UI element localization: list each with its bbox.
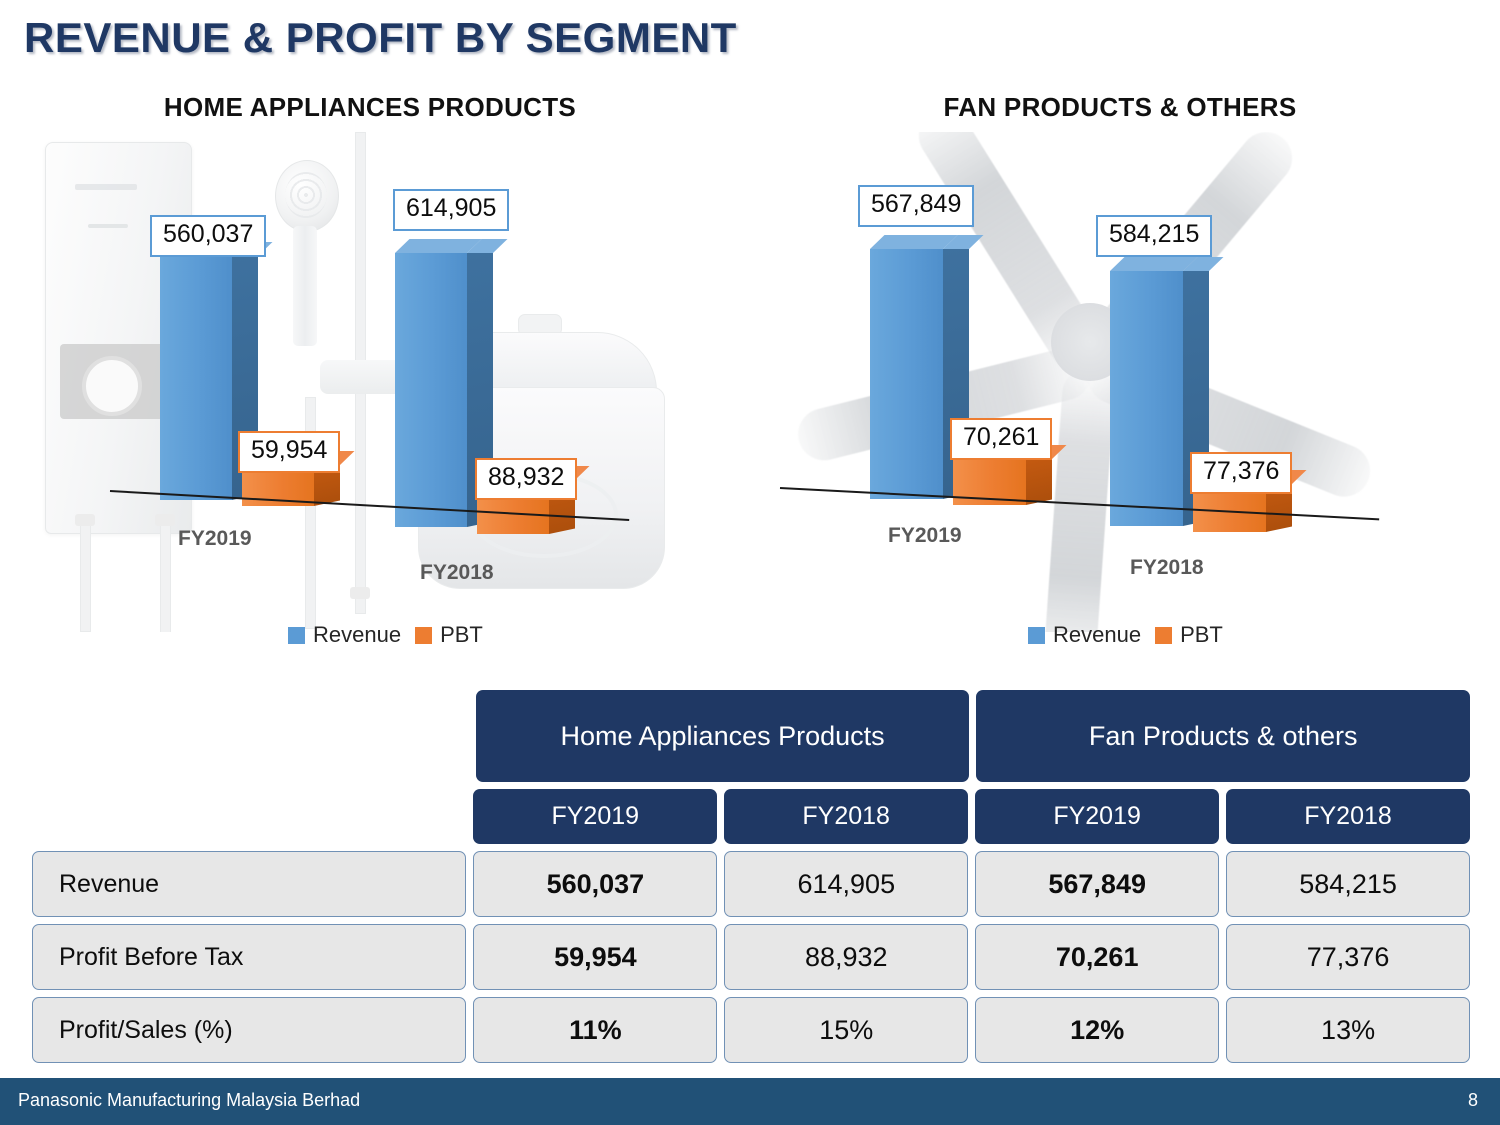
table-row-label-revenue: Revenue	[32, 851, 466, 917]
pipe-icon-2	[160, 520, 171, 632]
square-swatch-orange-icon	[415, 627, 432, 644]
table-cell-revenue-fan-fy2019: 567,849	[975, 851, 1219, 917]
segment-summary-table: Home Appliances Products Fan Products & …	[32, 690, 1470, 1070]
table-cell-pbt-fan-fy2018: 77,376	[1226, 924, 1470, 990]
table-row-label-profit-sales-pct: Profit/Sales (%)	[32, 997, 466, 1063]
table-row: Profit Before Tax 59,954 88,932 70,261 7…	[32, 924, 1470, 990]
table-cell-profitsales-fan-fy2019: 12%	[975, 997, 1219, 1063]
table-cell-pbt-ha-fy2019: 59,954	[473, 924, 717, 990]
chart-legend-home-appliances: Revenue PBT	[288, 622, 483, 648]
table-row-label-profit-before-tax: Profit Before Tax	[32, 924, 466, 990]
chart-title-fan-products: FAN PRODUCTS & OTHERS	[760, 92, 1480, 123]
pipe-cap-icon-2	[155, 514, 175, 526]
table-cell-profitsales-ha-fy2018: 15%	[724, 997, 968, 1063]
table-group-header-row: Home Appliances Products Fan Products & …	[32, 690, 1470, 782]
water-heater-brand-mark	[75, 184, 137, 190]
square-swatch-blue-icon	[1028, 627, 1045, 644]
slide-footer: Panasonic Manufacturing Malaysia Berhad …	[0, 1078, 1500, 1125]
table-corner-spacer-2	[32, 789, 466, 844]
legend-item-revenue: Revenue	[288, 622, 401, 648]
footer-page-number: 8	[1468, 1090, 1478, 1111]
table-corner-spacer	[32, 690, 469, 782]
bar-revenue-fy2019	[870, 249, 943, 499]
legend-item-pbt: PBT	[1155, 622, 1223, 648]
legend-label-pbt: PBT	[440, 622, 483, 648]
table-year-header-fan-fy2019: FY2019	[975, 789, 1219, 844]
table-group-header-home-appliances: Home Appliances Products	[476, 690, 970, 782]
value-label-revenue-fy2018: 584,215	[1096, 215, 1212, 257]
bar-revenue-fy2019	[160, 256, 232, 500]
table-year-header-fan-fy2018: FY2018	[1226, 789, 1470, 844]
value-label-pbt-fy2018: 77,376	[1190, 452, 1292, 494]
table-cell-revenue-ha-fy2018: 614,905	[724, 851, 968, 917]
table-group-header-fan-products: Fan Products & others	[976, 690, 1470, 782]
square-swatch-orange-icon	[1155, 627, 1172, 644]
slide-root: REVENUE & PROFIT BY SEGMENT HOME APPLIAN…	[0, 0, 1500, 1125]
table-year-header-row: FY2019 FY2018 FY2019 FY2018	[32, 789, 1470, 844]
fan-blade-icon-2	[1043, 366, 1116, 632]
table-year-header-ha-fy2018: FY2018	[724, 789, 968, 844]
pipe-cap-icon-3	[350, 587, 370, 599]
table-row: Revenue 560,037 614,905 567,849 584,215	[32, 851, 1470, 917]
value-label-pbt-fy2019: 59,954	[238, 431, 340, 473]
pipe-icon-1	[80, 520, 91, 632]
chart-legend-fan-products: Revenue PBT	[1028, 622, 1223, 648]
category-label-fy2018: FY2018	[1130, 556, 1204, 580]
chart-home-appliances: HOME APPLIANCES PRODUCTS	[20, 92, 720, 672]
chart-title-home-appliances: HOME APPLIANCES PRODUCTS	[20, 92, 720, 123]
legend-item-pbt: PBT	[415, 622, 483, 648]
table-cell-profitsales-fan-fy2018: 13%	[1226, 997, 1470, 1063]
bar-revenue-fy2018	[1110, 271, 1183, 526]
background-artwork-water-heater	[20, 132, 720, 632]
shower-handle-icon	[293, 226, 317, 346]
bar-revenue-fy2018	[395, 253, 467, 527]
footer-company-name: Panasonic Manufacturing Malaysia Berhad	[18, 1090, 360, 1111]
legend-item-revenue: Revenue	[1028, 622, 1141, 648]
shower-head-nozzles	[285, 172, 327, 218]
pipe-cap-icon-1	[75, 514, 95, 526]
category-label-fy2019: FY2019	[178, 527, 252, 551]
table-cell-revenue-ha-fy2019: 560,037	[473, 851, 717, 917]
table-year-header-ha-fy2019: FY2019	[473, 789, 717, 844]
category-label-fy2018: FY2018	[420, 561, 494, 585]
category-label-fy2019: FY2019	[888, 524, 962, 548]
legend-label-pbt: PBT	[1180, 622, 1223, 648]
value-label-pbt-fy2018: 88,932	[475, 458, 577, 500]
value-label-pbt-fy2019: 70,261	[950, 418, 1052, 460]
water-heater-label-line	[88, 224, 128, 228]
table-cell-revenue-fan-fy2018: 584,215	[1226, 851, 1470, 917]
legend-label-revenue: Revenue	[313, 622, 401, 648]
plot-area-fan-products: 567,849 70,261 584,215 77,376 FY2019 FY2…	[760, 132, 1480, 632]
page-title: REVENUE & PROFIT BY SEGMENT	[24, 14, 737, 62]
value-label-revenue-fy2019: 567,849	[858, 185, 974, 227]
value-label-revenue-fy2018: 614,905	[393, 189, 509, 231]
table-cell-pbt-ha-fy2018: 88,932	[724, 924, 968, 990]
legend-label-revenue: Revenue	[1053, 622, 1141, 648]
plot-area-home-appliances: 560,037 59,954 614,905 88,932 FY2019 FY2…	[20, 132, 720, 632]
square-swatch-blue-icon	[288, 627, 305, 644]
table-row: Profit/Sales (%) 11% 15% 12% 13%	[32, 997, 1470, 1063]
value-label-revenue-fy2019: 560,037	[150, 215, 266, 257]
table-cell-pbt-fan-fy2019: 70,261	[975, 924, 1219, 990]
table-cell-profitsales-ha-fy2019: 11%	[473, 997, 717, 1063]
chart-fan-products: FAN PRODUCTS & OTHERS	[760, 92, 1480, 672]
water-heater-dial-icon	[82, 356, 142, 416]
